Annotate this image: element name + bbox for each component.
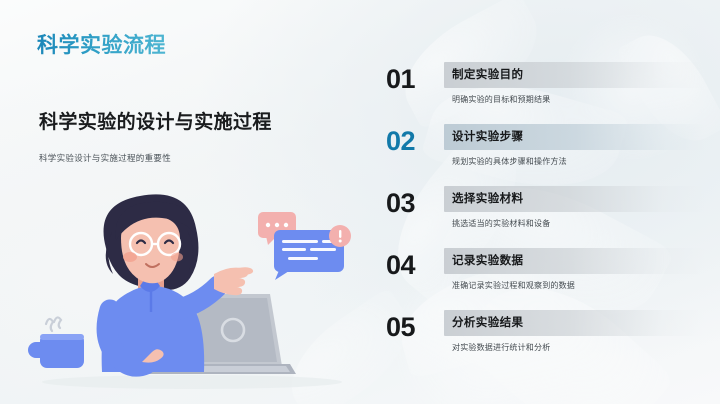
step-description: 规划实验的具体步骤和操作方法	[452, 156, 567, 167]
step-description: 准确记录实验过程和观察到的数据	[452, 280, 575, 291]
step-number: 05	[386, 314, 444, 341]
step-title: 分析实验结果	[452, 314, 523, 330]
slide-canvas: 科学实验流程 科学实验的设计与实施过程 科学实验设计与实施过程的重要性	[0, 0, 720, 404]
step-title: 记录实验数据	[452, 252, 523, 268]
coffee-mug-icon	[28, 317, 84, 368]
slide-headline: 科学实验的设计与实施过程	[39, 107, 272, 134]
pointing-hand-icon	[214, 267, 253, 295]
step-description: 对实验数据进行统计和分析	[452, 342, 550, 353]
notification-badge-icon	[329, 225, 351, 247]
slide-kicker-title: 科学实验流程	[37, 29, 166, 59]
step-item-01[interactable]: 01 制定实验目的 明确实验的目标和预期结果	[386, 62, 704, 124]
step-title: 设计实验步骤	[452, 128, 523, 144]
step-number: 03	[386, 190, 444, 217]
step-number: 02	[386, 128, 444, 155]
step-item-04[interactable]: 04 记录实验数据 准确记录实验过程和观察到的数据	[386, 248, 704, 310]
step-number: 04	[386, 252, 444, 279]
step-item-05[interactable]: 05 分析实验结果 对实验数据进行统计和分析	[386, 310, 704, 372]
step-description: 挑选适当的实验材料和设备	[452, 218, 550, 229]
slide-subline: 科学实验设计与实施过程的重要性	[39, 152, 171, 164]
step-description: 明确实验的目标和预期结果	[452, 94, 550, 105]
steps-list: 01 制定实验目的 明确实验的目标和预期结果 02 设计实验步骤 规划实验的具体…	[386, 62, 704, 372]
step-title: 选择实验材料	[452, 190, 523, 206]
illustration-woman-at-laptop	[24, 186, 360, 392]
step-item-02[interactable]: 02 设计实验步骤 规划实验的具体步骤和操作方法	[386, 124, 704, 186]
step-title: 制定实验目的	[452, 66, 523, 82]
step-item-03[interactable]: 03 选择实验材料 挑选适当的实验材料和设备	[386, 186, 704, 248]
step-number: 01	[386, 66, 444, 93]
